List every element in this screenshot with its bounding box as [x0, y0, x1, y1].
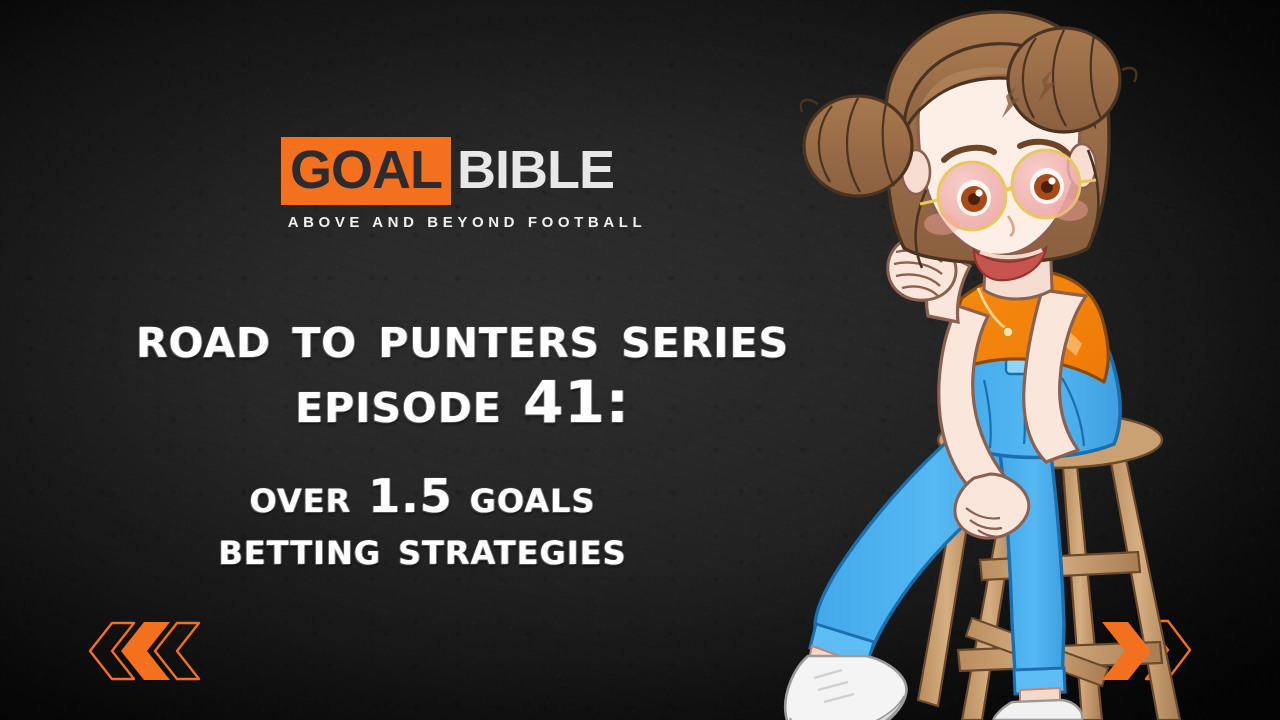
- hair-bun-right: [1008, 28, 1136, 132]
- blush-right: [1052, 199, 1088, 221]
- brand-logo: GOAL BIBLE ABOVE AND BEYOND FOOTBALL: [281, 137, 653, 231]
- logo-wordmark: GOAL BIBLE: [281, 137, 653, 205]
- logo-tagline: ABOVE AND BEYOND FOOTBALL: [281, 214, 653, 231]
- logo-bible-text: BIBLE: [451, 137, 614, 205]
- chevron-right-solid-icon: [1098, 620, 1168, 682]
- double-chevron-left-icon: [78, 620, 208, 682]
- logo-goal-text: GOAL: [281, 137, 451, 205]
- avatar-illustration: [690, 0, 1280, 720]
- sneaker-right: [994, 700, 1083, 720]
- sneaker-left: [785, 656, 906, 720]
- chevron-right-solid: [1102, 622, 1151, 680]
- hair-bun-left: [801, 96, 912, 196]
- thumbnail-canvas: GOAL BIBLE ABOVE AND BEYOND FOOTBALL Roa…: [0, 0, 1280, 720]
- blush-left: [924, 213, 960, 235]
